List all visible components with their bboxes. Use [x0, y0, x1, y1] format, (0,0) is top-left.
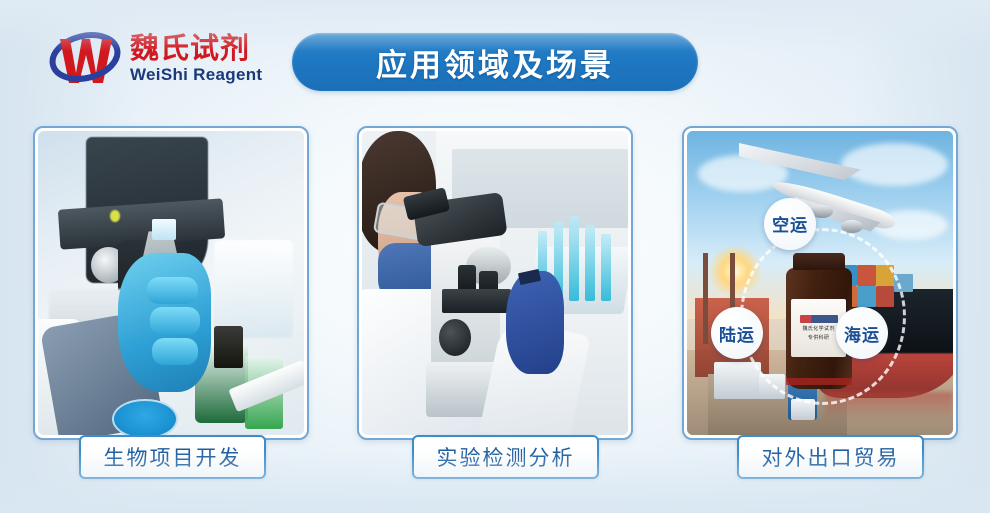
- caption-bio-project-development-label: 生物项目开发: [104, 442, 242, 472]
- photo-export-trade: 魏氏化学试剂 专供科研 空运 陆运 海运: [687, 131, 953, 435]
- page-title-banner: 应用领域及场景: [292, 33, 698, 91]
- caption-lab-testing-analysis[interactable]: 实验检测分析: [412, 435, 599, 479]
- logo-wordmark: 魏氏试剂 WeiShi Reagent: [130, 34, 262, 83]
- bubble-sea-freight-label: 海运: [844, 321, 880, 346]
- brand-logo: 魏氏试剂 WeiShi Reagent: [48, 22, 298, 94]
- bubble-air-freight: 空运: [764, 198, 816, 250]
- bottle-label-line2: 专供科研: [808, 334, 830, 341]
- logo-cn-text: 魏氏试剂: [130, 34, 262, 63]
- caption-export-trade[interactable]: 对外出口贸易: [737, 435, 924, 479]
- page-title: 应用领域及场景: [376, 40, 614, 85]
- slide-canvas: 魏氏试剂 WeiShi Reagent 应用领域及场景: [0, 0, 990, 513]
- card-row: 魏氏化学试剂 专供科研 空运 陆运 海运: [0, 126, 990, 446]
- card-export-trade[interactable]: 魏氏化学试剂 专供科研 空运 陆运 海运: [682, 126, 958, 440]
- caption-bio-project-development[interactable]: 生物项目开发: [79, 435, 266, 479]
- caption-lab-testing-analysis-label: 实验检测分析: [437, 442, 575, 472]
- logo-en-text: WeiShi Reagent: [130, 66, 262, 83]
- bubble-land-freight: 陆运: [711, 307, 763, 359]
- card-bio-project-development[interactable]: [33, 126, 309, 440]
- caption-export-trade-label: 对外出口贸易: [762, 442, 900, 472]
- bottle-logo-icon: [800, 315, 838, 323]
- card-lab-testing-analysis[interactable]: [357, 126, 633, 440]
- bubble-land-freight-label: 陆运: [719, 321, 755, 346]
- bottle-label-line1: 魏氏化学试剂: [802, 325, 834, 332]
- bubble-air-freight-label: 空运: [772, 211, 808, 236]
- logo-w-swoosh-icon: [48, 27, 122, 89]
- photo-lab-testing-analysis: [362, 131, 628, 435]
- photo-bio-project-development: [38, 131, 304, 435]
- bubble-sea-freight: 海运: [836, 307, 888, 359]
